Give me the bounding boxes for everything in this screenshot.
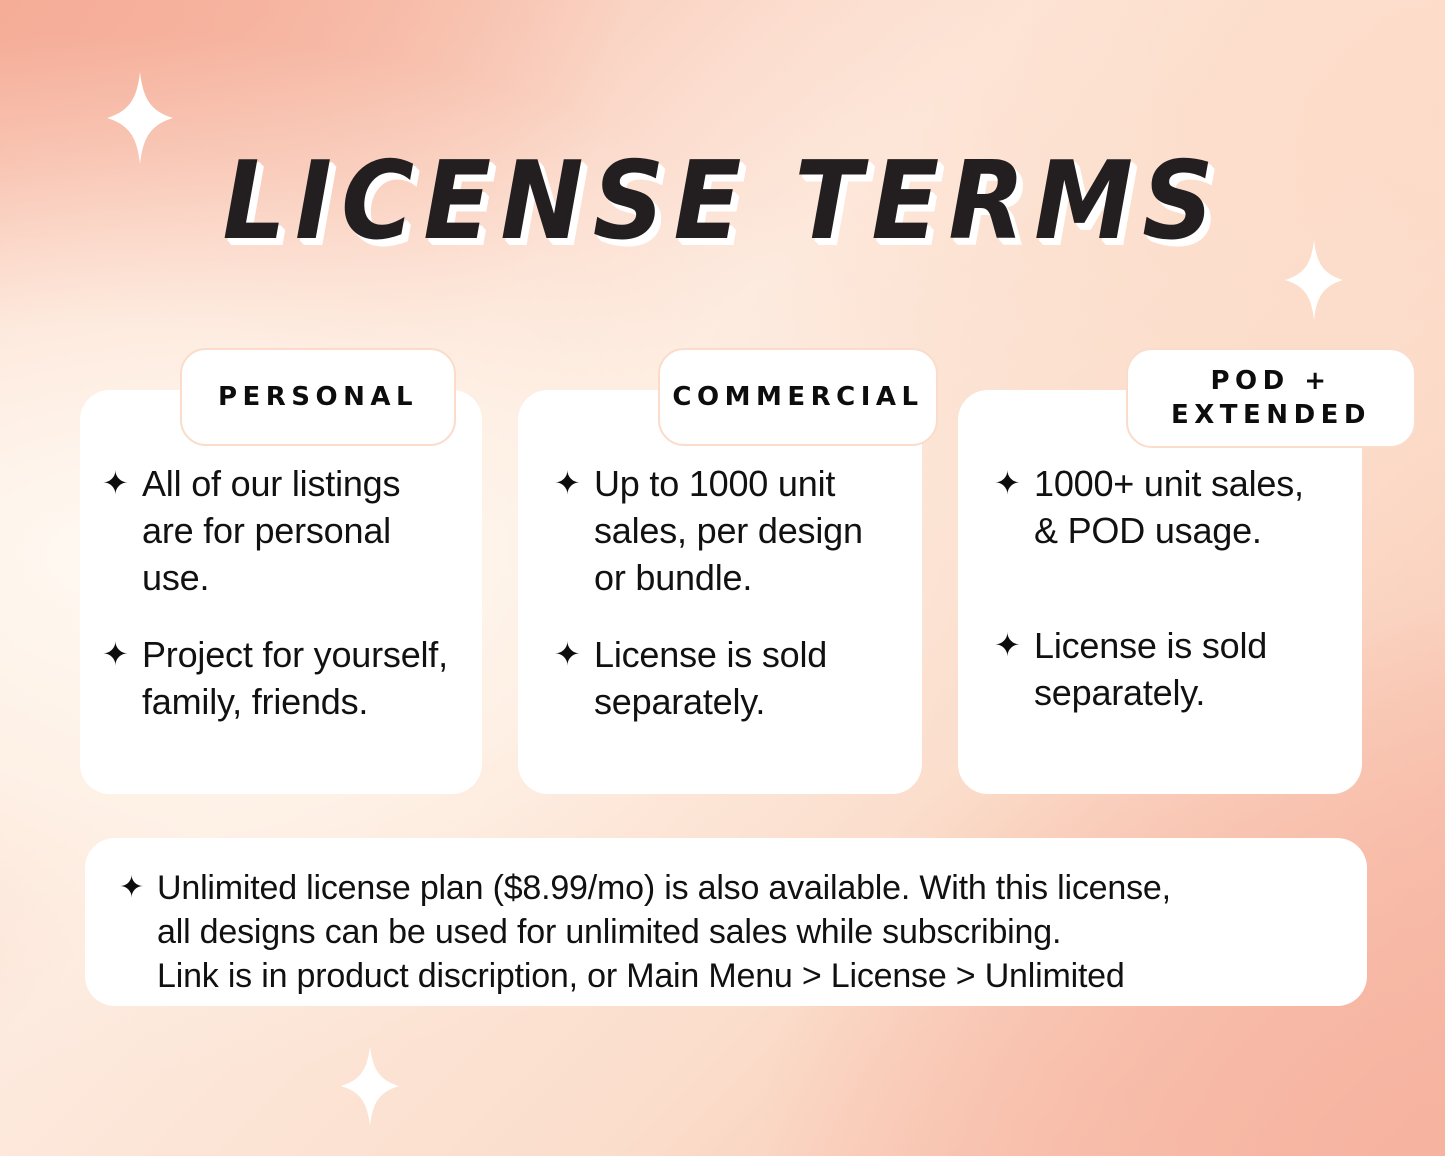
list-item-text: All of our listings are for personal use… — [142, 460, 400, 601]
list-item: ✦ License is sold separately. — [554, 631, 906, 725]
card-bullets-pod-extended: ✦ 1000+ unit sales, & POD usage. ✦ Licen… — [958, 460, 1362, 716]
page-title: LICENSE TERMS — [222, 148, 1222, 256]
card-heading-commercial: COMMERCIAL — [658, 348, 938, 446]
card-heading-personal: PERSONAL — [180, 348, 456, 446]
list-item: ✦ All of our listings are for personal u… — [102, 460, 466, 601]
license-terms-poster: LICENSE TERMS PERSONAL ✦ All of our list… — [0, 0, 1445, 1156]
license-card-pod-extended: POD + EXTENDED ✦ 1000+ unit sales, & POD… — [958, 348, 1362, 794]
sparkle-icon-bottom-left — [341, 1046, 399, 1126]
card-bullets-personal: ✦ All of our listings are for personal u… — [80, 460, 482, 725]
license-card-personal: PERSONAL ✦ All of our listings are for p… — [80, 348, 482, 794]
list-item-text: 1000+ unit sales, & POD usage. — [1034, 460, 1304, 554]
card-heading-label-commercial: COMMERCIAL — [672, 380, 923, 414]
license-tier-cards: PERSONAL ✦ All of our listings are for p… — [78, 348, 1368, 798]
list-item-text: License is sold separately. — [594, 631, 827, 725]
list-item-text: Up to 1000 unit sales, per design or bun… — [594, 460, 863, 601]
card-heading-label-pod-extended: POD + EXTENDED — [1128, 364, 1414, 433]
unlimited-plan-text: Unlimited license plan ($8.99/mo) is als… — [157, 866, 1171, 998]
sparkle-bullet-icon: ✦ — [994, 460, 1034, 507]
list-item-text: License is sold separately. — [1034, 622, 1267, 716]
page-title-container: LICENSE TERMS — [0, 148, 1445, 256]
sparkle-bullet-icon: ✦ — [994, 622, 1034, 669]
list-item: ✦ 1000+ unit sales, & POD usage. — [994, 460, 1346, 554]
card-bullets-commercial: ✦ Up to 1000 unit sales, per design or b… — [518, 460, 922, 725]
sparkle-bullet-icon: ✦ — [102, 631, 142, 678]
card-heading-pod-extended: POD + EXTENDED — [1126, 348, 1416, 448]
card-heading-label-personal: PERSONAL — [218, 380, 418, 414]
sparkle-bullet-icon: ✦ — [554, 460, 594, 507]
license-card-commercial: COMMERCIAL ✦ Up to 1000 unit sales, per … — [518, 348, 922, 794]
list-item: ✦ Up to 1000 unit sales, per design or b… — [554, 460, 906, 601]
sparkle-bullet-icon: ✦ — [554, 631, 594, 678]
sparkle-bullet-icon: ✦ — [119, 866, 157, 910]
list-item-text: Project for yourself, family, friends. — [142, 631, 448, 725]
sparkle-bullet-icon: ✦ — [102, 460, 142, 507]
list-item: ✦ License is sold separately. — [994, 622, 1346, 716]
list-item: ✦ Project for yourself, family, friends. — [102, 631, 466, 725]
unlimited-plan-banner-inner: ✦ Unlimited license plan ($8.99/mo) is a… — [85, 838, 1367, 998]
unlimited-plan-banner: ✦ Unlimited license plan ($8.99/mo) is a… — [85, 838, 1367, 1006]
